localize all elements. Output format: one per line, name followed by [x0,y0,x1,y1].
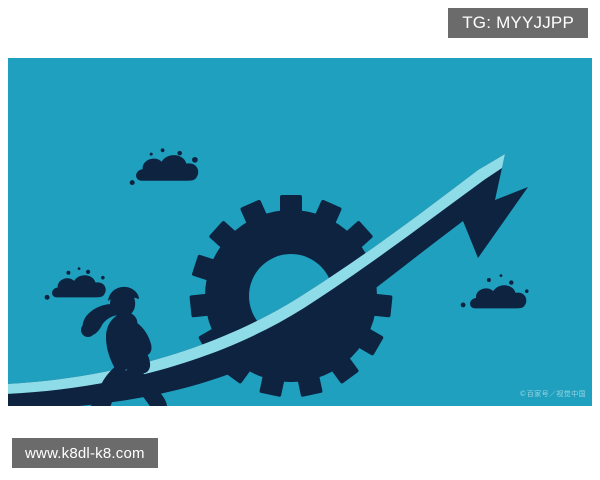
illustration-artwork [8,58,592,406]
image-credit-watermark: ©百家号／视觉中国 [519,389,586,399]
screenshot-root: ©百家号／视觉中国 TG: MYYJJPP www.k8dl-k8.com [0,0,600,480]
telegram-watermark-badge: TG: MYYJJPP [448,8,588,38]
illustration-image: ©百家号／视觉中国 [8,58,592,406]
website-watermark-badge: www.k8dl-k8.com [12,438,158,468]
